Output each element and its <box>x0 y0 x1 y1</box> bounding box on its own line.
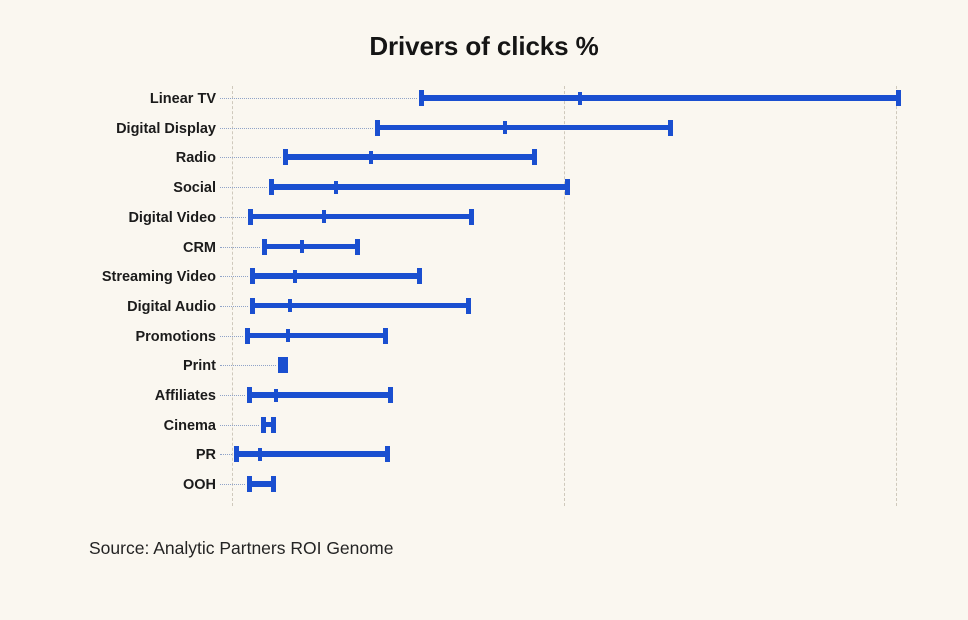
range-bar <box>248 214 474 220</box>
leader-line <box>220 217 246 218</box>
leader-line <box>220 157 281 158</box>
low-cap <box>250 298 255 314</box>
leader-line <box>220 247 260 248</box>
high-cap <box>271 417 276 433</box>
category-label-digital-audio: Digital Audio <box>127 292 216 322</box>
leader-line <box>220 98 417 99</box>
leader-line <box>220 276 248 277</box>
low-cap <box>269 179 274 195</box>
leader-line <box>220 395 245 396</box>
low-cap <box>245 328 250 344</box>
leader-line <box>220 187 267 188</box>
category-label-promotions: Promotions <box>135 322 216 352</box>
median-tick <box>578 92 583 105</box>
low-cap <box>375 120 380 136</box>
high-cap <box>417 268 422 284</box>
low-cap <box>234 446 239 462</box>
median-tick <box>322 210 327 223</box>
chart-row: Digital Audio <box>0 292 968 322</box>
high-cap <box>385 446 390 462</box>
chart-container: Drivers of clicks % Linear TVDigital Dis… <box>0 0 968 620</box>
chart-row: Social <box>0 173 968 203</box>
category-label-linear-tv: Linear TV <box>150 84 216 114</box>
high-cap <box>565 179 570 195</box>
category-label-pr: PR <box>196 440 216 470</box>
low-cap <box>250 268 255 284</box>
range-bar <box>375 125 673 131</box>
median-tick <box>258 448 263 461</box>
high-cap <box>532 149 537 165</box>
low-cap <box>247 387 252 403</box>
median-tick <box>369 151 374 164</box>
category-label-affiliates: Affiliates <box>155 381 216 411</box>
category-label-crm: CRM <box>183 233 216 263</box>
leader-line <box>220 128 373 129</box>
category-label-radio: Radio <box>176 143 216 173</box>
range-bar <box>283 154 537 160</box>
chart-row: Print <box>0 351 968 381</box>
range-bar <box>247 392 393 398</box>
chart-row: Linear TV <box>0 84 968 114</box>
chart-row: Cinema <box>0 411 968 441</box>
source-note: Source: Analytic Partners ROI Genome <box>89 538 393 559</box>
median-tick <box>300 240 305 253</box>
chart-row: Digital Video <box>0 203 968 233</box>
low-cap <box>248 209 253 225</box>
range-bar <box>262 244 360 250</box>
high-cap <box>896 90 901 106</box>
chart-row: CRM <box>0 233 968 263</box>
low-cap <box>262 239 267 255</box>
chart-row: Affiliates <box>0 381 968 411</box>
range-bar <box>245 333 388 339</box>
range-bar <box>419 95 901 101</box>
high-cap <box>466 298 471 314</box>
chart-row: Streaming Video <box>0 262 968 292</box>
low-cap <box>419 90 424 106</box>
category-label-digital-video: Digital Video <box>128 203 216 233</box>
leader-line <box>220 484 245 485</box>
median-tick <box>334 181 339 194</box>
high-cap <box>271 476 276 492</box>
median-tick <box>274 389 279 402</box>
category-label-social: Social <box>173 173 216 203</box>
chart-row: Radio <box>0 143 968 173</box>
category-label-streaming-video: Streaming Video <box>102 262 216 292</box>
category-label-digital-display: Digital Display <box>116 114 216 144</box>
leader-line <box>220 454 232 455</box>
high-cap <box>283 357 288 373</box>
low-cap <box>261 417 266 433</box>
low-cap <box>283 149 288 165</box>
category-label-ooh: OOH <box>183 470 216 500</box>
category-label-print: Print <box>183 351 216 381</box>
median-tick <box>503 121 508 134</box>
leader-line <box>220 425 259 426</box>
category-label-cinema: Cinema <box>164 411 216 441</box>
chart-row: Digital Display <box>0 114 968 144</box>
range-bar <box>250 303 471 309</box>
chart-row: OOH <box>0 470 968 500</box>
leader-line <box>220 365 276 366</box>
high-cap <box>388 387 393 403</box>
median-tick <box>293 270 298 283</box>
chart-row: Promotions <box>0 322 968 352</box>
range-bar <box>269 184 570 190</box>
median-tick <box>288 299 293 312</box>
leader-line <box>220 336 243 337</box>
median-tick <box>279 359 284 372</box>
low-cap <box>247 476 252 492</box>
high-cap <box>355 239 360 255</box>
high-cap <box>668 120 673 136</box>
median-tick <box>286 329 291 342</box>
high-cap <box>383 328 388 344</box>
high-cap <box>469 209 474 225</box>
range-bar <box>250 273 422 279</box>
chart-title: Drivers of clicks % <box>0 31 968 62</box>
leader-line <box>220 306 248 307</box>
plot-area: Linear TVDigital DisplayRadioSocialDigit… <box>0 86 968 506</box>
chart-row: PR <box>0 440 968 470</box>
